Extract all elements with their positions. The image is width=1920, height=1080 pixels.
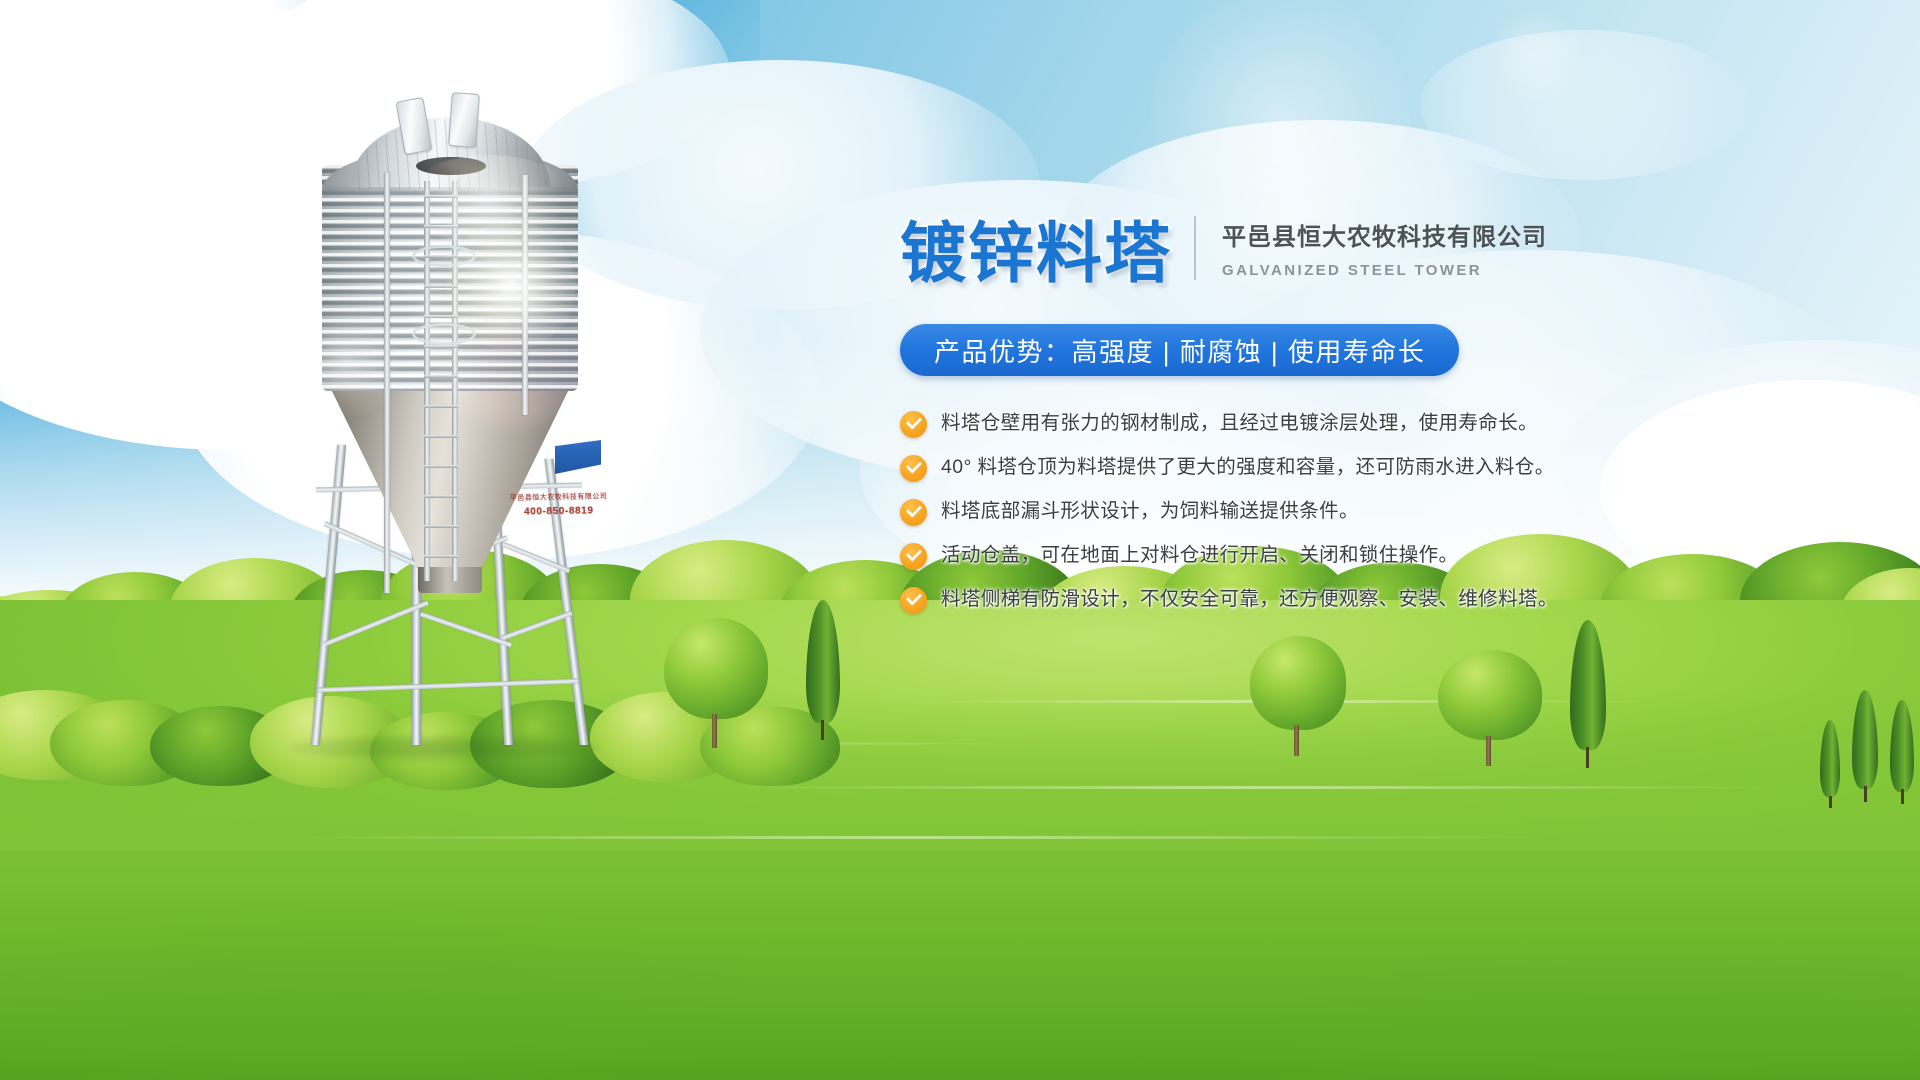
tree	[664, 618, 768, 748]
list-item-label: 料塔侧梯有防滑设计，不仅安全可靠，还方便观察、安装、维修料塔。	[941, 586, 1558, 613]
cypress-tree	[1890, 700, 1914, 804]
cypress-tree	[806, 600, 840, 740]
cypress-tree	[1820, 720, 1840, 808]
list-item: 40° 料塔仓顶为料塔提供了更大的强度和容量，还可防雨水进入料仓。	[900, 454, 1660, 482]
advantage-badge: 产品优势：高强度 | 耐腐蚀 | 使用寿命长	[900, 324, 1459, 376]
tree	[1438, 650, 1542, 766]
list-item: 料塔侧梯有防滑设计，不仅安全可靠，还方便观察、安装、维修料塔。	[900, 586, 1660, 614]
list-item: 料塔底部漏斗形状设计，为饲料输送提供条件。	[900, 498, 1660, 526]
product-banner: 平邑县恒大农牧科技有限公司 400-850-8819	[0, 0, 1920, 1080]
cypress-tree	[1570, 620, 1606, 768]
company-name: 平邑县恒大农牧科技有限公司	[1222, 217, 1547, 252]
check-circle-icon	[900, 587, 927, 614]
galvanized-feed-silo: 平邑县恒大农牧科技有限公司 400-850-8819	[300, 95, 600, 745]
feature-list: 料塔仓壁用有张力的钢材制成，且经过电镀涂层处理，使用寿命长。 40° 料塔仓顶为…	[900, 410, 1660, 614]
silo-lid-flap	[448, 92, 480, 148]
product-subtitle-en: GALVANIZED STEEL TOWER	[1222, 262, 1547, 279]
check-circle-icon	[900, 499, 927, 526]
title-row: 镀锌料塔 平邑县恒大农牧科技有限公司 GALVANIZED STEEL TOWE…	[900, 200, 1660, 296]
check-circle-icon	[900, 543, 927, 570]
list-item-label: 料塔仓壁用有张力的钢材制成，且经过电镀涂层处理，使用寿命长。	[941, 410, 1538, 437]
mow-stripe	[260, 836, 1560, 839]
list-item-label: 40° 料塔仓顶为料塔提供了更大的强度和容量，还可防雨水进入料仓。	[941, 454, 1555, 481]
silo-vertical-rail	[384, 173, 390, 593]
cypress-tree	[1852, 690, 1878, 802]
lens-rainbow-artifact	[420, 215, 610, 425]
tree	[1250, 636, 1346, 756]
vertical-divider	[1194, 216, 1196, 280]
cloud	[1420, 30, 1750, 180]
check-circle-icon	[900, 411, 927, 438]
mow-stripe	[700, 786, 1800, 789]
brand-block: 平邑县恒大农牧科技有限公司 GALVANIZED STEEL TOWER	[1222, 217, 1547, 279]
banner-content: 镀锌料塔 平邑县恒大农牧科技有限公司 GALVANIZED STEEL TOWE…	[900, 200, 1660, 630]
page-title: 镀锌料塔	[900, 200, 1172, 296]
list-item: 活动仓盖，可在地面上对料仓进行开启、关闭和锁住操作。	[900, 542, 1660, 570]
silo-roof-hatch	[416, 157, 486, 175]
list-item-label: 料塔底部漏斗形状设计，为饲料输送提供条件。	[941, 498, 1359, 525]
list-item-label: 活动仓盖，可在地面上对料仓进行开启、关闭和锁住操作。	[941, 542, 1458, 569]
check-circle-icon	[900, 455, 927, 482]
list-item: 料塔仓壁用有张力的钢材制成，且经过电镀涂层处理，使用寿命长。	[900, 410, 1660, 438]
